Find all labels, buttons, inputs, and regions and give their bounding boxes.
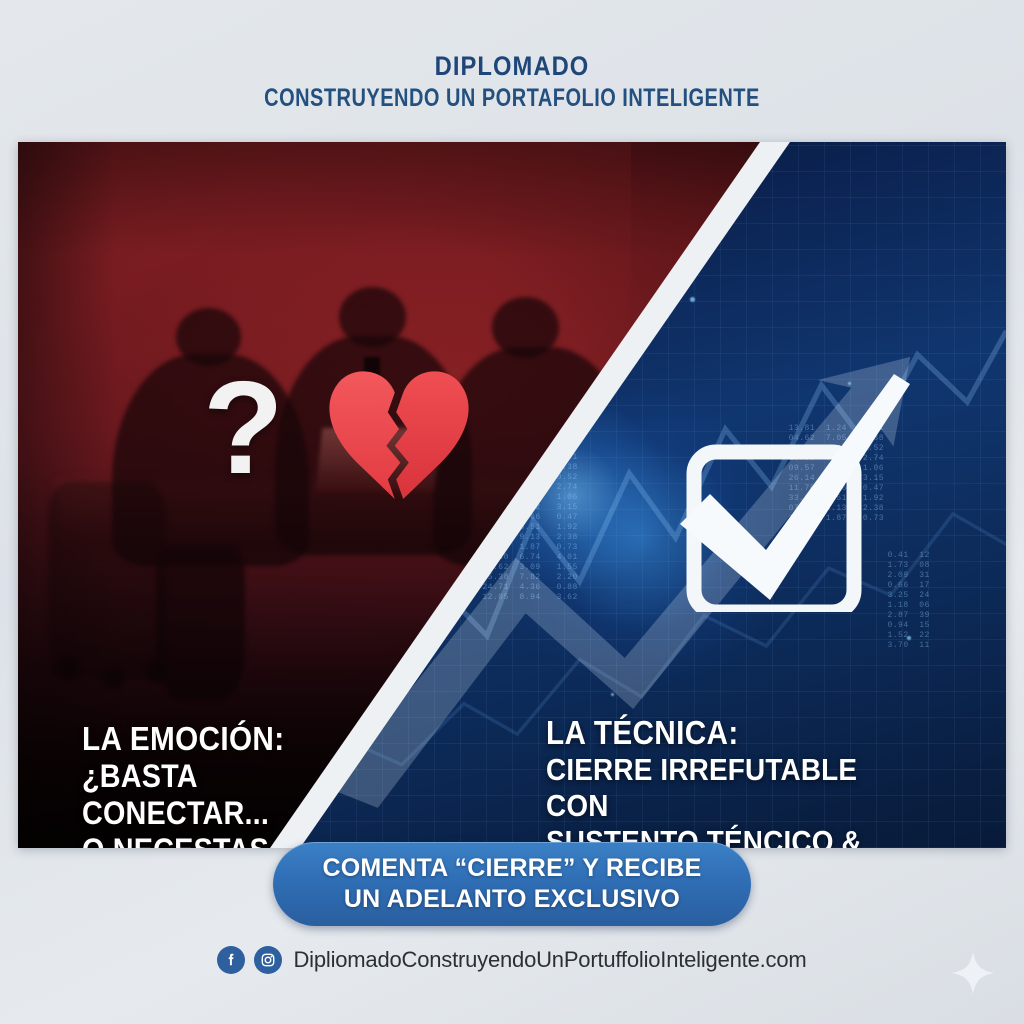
- cta-line-2: UN ADELANTO EXCLUSIVO: [344, 884, 680, 915]
- main-image-panel: 13.81 1.24 0.91 04.62 7.05 1.38 21.09 3.…: [18, 142, 1006, 848]
- header-subtitle: CONSTRUYENDO UN PORTAFOLIO INTELIGENTE: [102, 84, 921, 113]
- cta-line-1: COMENTA “CIERRE” Y RECIBE: [322, 853, 701, 884]
- right-headline: LA TÉCNICA: CIERRE IRREFUTABLE CON SUSTE…: [546, 714, 966, 848]
- checkbox-checked-icon: [658, 312, 928, 612]
- left-headline: LA EMOCIÓN: ¿BASTA CONECTAR... O NECESTA…: [82, 720, 412, 848]
- header: DIPLOMADO CONSTRUYENDO UN PORTAFOLIO INT…: [0, 52, 1024, 113]
- footer-url[interactable]: DipliomadoConstruyendoUnPortuffolioIntel…: [293, 947, 806, 973]
- left-headline-line1: ¿BASTA CONECTAR...: [82, 758, 379, 832]
- instagram-icon[interactable]: [254, 946, 282, 974]
- technique-icon-group: [658, 312, 928, 612]
- footer: DipliomadoConstruyendoUnPortuffolioIntel…: [0, 946, 1024, 974]
- left-headline-kicker: LA EMOCIÓN:: [82, 720, 379, 758]
- question-mark-icon: ?: [203, 362, 284, 494]
- broken-heart-icon: [315, 352, 483, 520]
- emotion-icon-group: ?: [195, 352, 450, 517]
- poster-canvas: DIPLOMADO CONSTRUYENDO UN PORTAFOLIO INT…: [0, 0, 1024, 1024]
- facebook-icon[interactable]: [217, 946, 245, 974]
- cta-button[interactable]: COMENTA “CIERRE” Y RECIBE UN ADELANTO EX…: [273, 842, 751, 926]
- right-headline-line1: CIERRE IRREFUTABLE CON: [546, 752, 924, 824]
- right-headline-kicker: LA TÉCNICA:: [546, 714, 924, 752]
- header-title: DIPLOMADO: [61, 52, 962, 80]
